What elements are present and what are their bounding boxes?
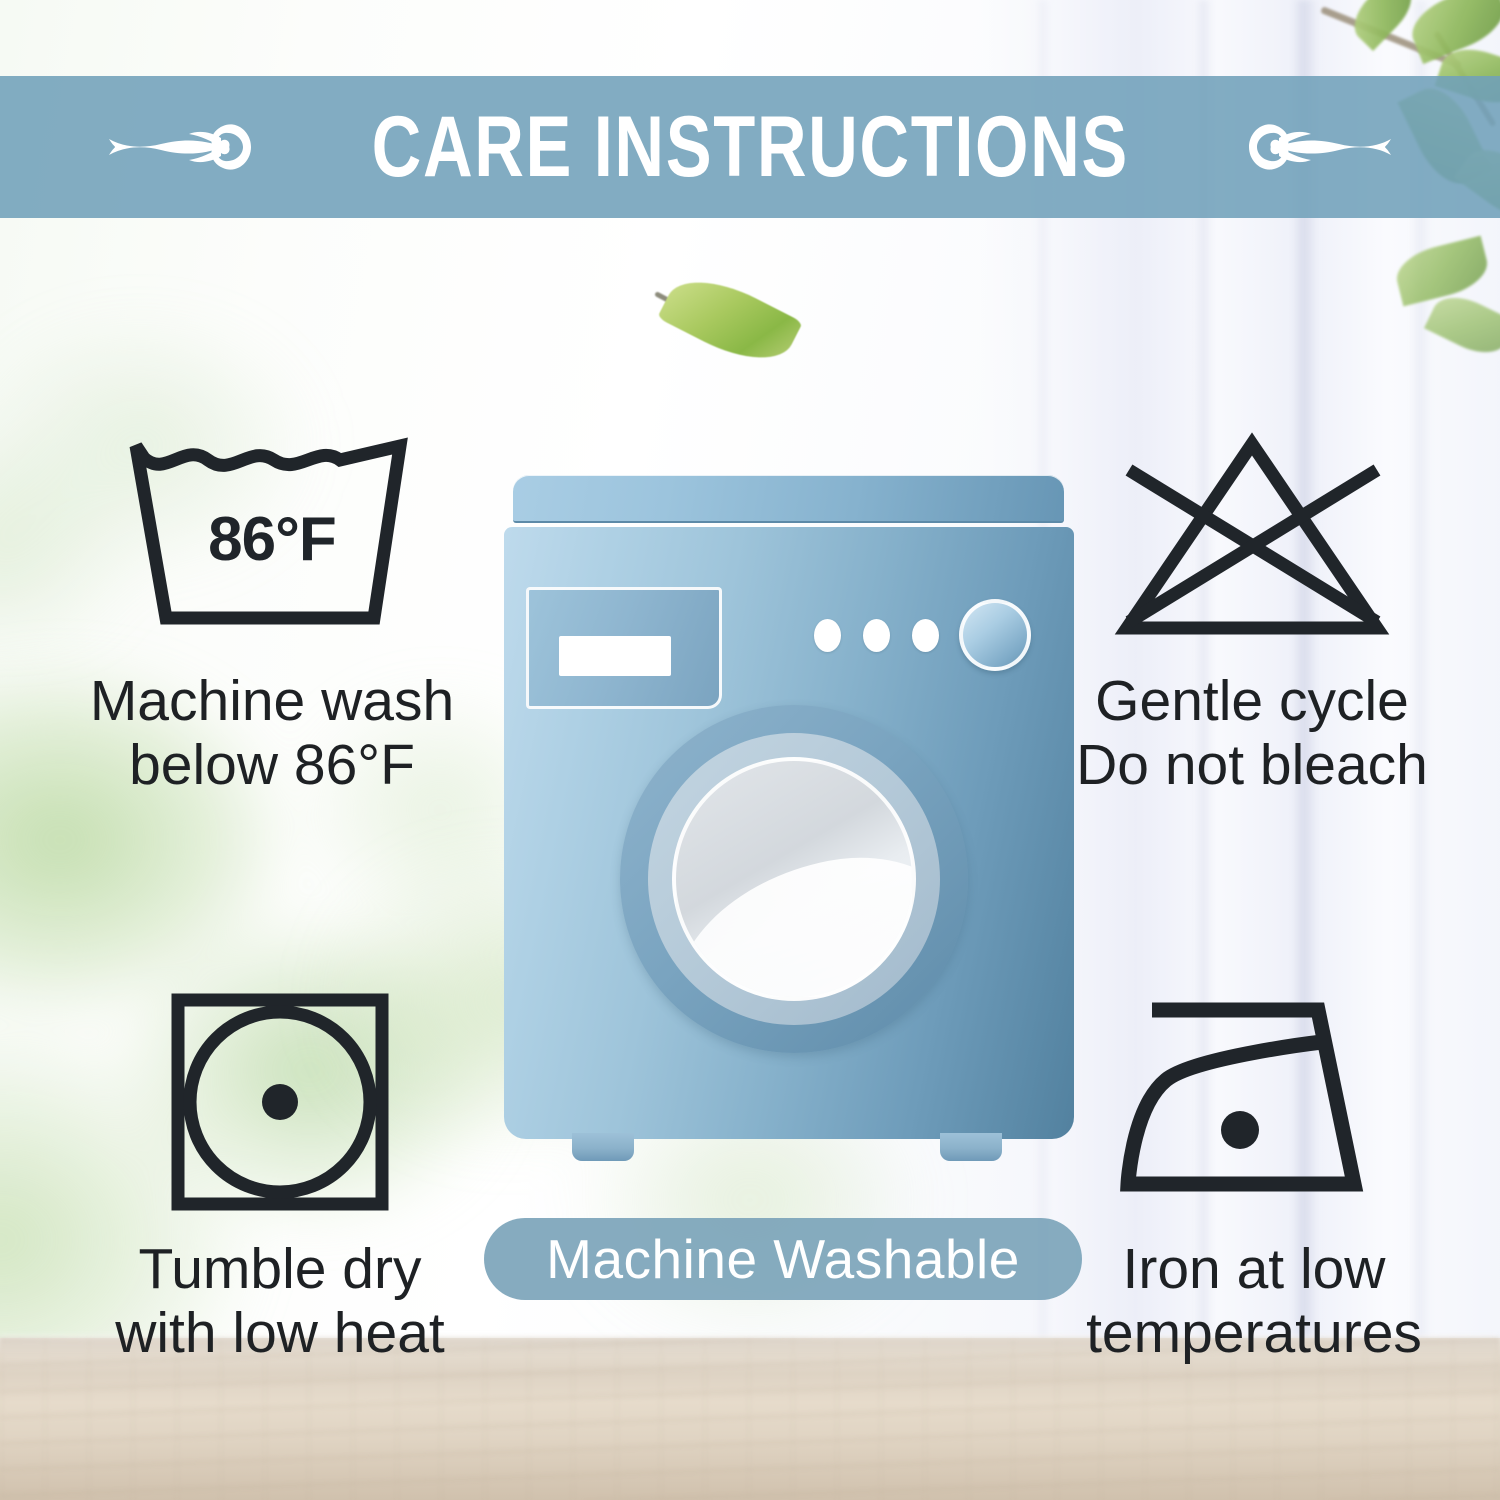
detergent-drawer [526,587,722,709]
door-glass [672,757,916,1001]
iron-glyph [1106,988,1402,1216]
indicator-light [912,619,939,652]
indicator-light [814,619,841,652]
care-symbol-caption: Gentle cycle Do not bleach [1012,670,1492,798]
care-symbol-machine-wash: 86°F Machine wash below 86°F [22,432,522,798]
glass-highlight [672,838,916,1001]
crossed-triangle-icon [1012,432,1492,644]
machine-door [620,705,968,1053]
care-symbol-iron-low: Iron at low temperatures [1014,988,1494,1366]
care-symbol-caption: Tumble dry with low heat [30,1238,530,1366]
machine-washable-badge: Machine Washable [484,1218,1082,1300]
indicator-lights [814,619,939,652]
fleur-de-lis-icon [1249,92,1399,202]
care-symbol-caption: Iron at low temperatures [1014,1238,1494,1366]
machine-body [504,527,1074,1139]
care-symbol-do-not-bleach: Gentle cycle Do not bleach [1012,432,1492,798]
detergent-drawer-slot [559,636,671,676]
machine-washable-label: Machine Washable [546,1227,1020,1291]
care-symbol-caption: Machine wash below 86°F [22,670,522,798]
page-title: CARE INSTRUCTIONS [371,104,1128,190]
do-not-bleach-glyph [1099,432,1405,644]
machine-foot [572,1133,634,1161]
washing-machine-illustration [500,475,1080,1195]
program-knob [959,599,1031,671]
iron-icon [1014,988,1494,1216]
fleur-de-lis-icon [101,92,251,202]
care-symbol-tumble-dry: Tumble dry with low heat [30,988,530,1366]
wash-tub-icon: 86°F [22,432,522,644]
care-instructions-infographic: CARE INSTRUCTIONS 86°F Machine wash belo… [0,0,1500,1500]
door-ring [648,733,940,1025]
header-banner: CARE INSTRUCTIONS [0,76,1500,218]
leaf [1391,236,1492,307]
tumble-dry-icon [30,988,530,1216]
background-leaf-cluster-lower [1356,236,1500,456]
tumble-dry-glyph [166,988,394,1216]
machine-top-lid [513,475,1064,523]
machine-foot [940,1133,1002,1161]
indicator-light [863,619,890,652]
wash-temperature-label: 86°F [22,504,522,575]
